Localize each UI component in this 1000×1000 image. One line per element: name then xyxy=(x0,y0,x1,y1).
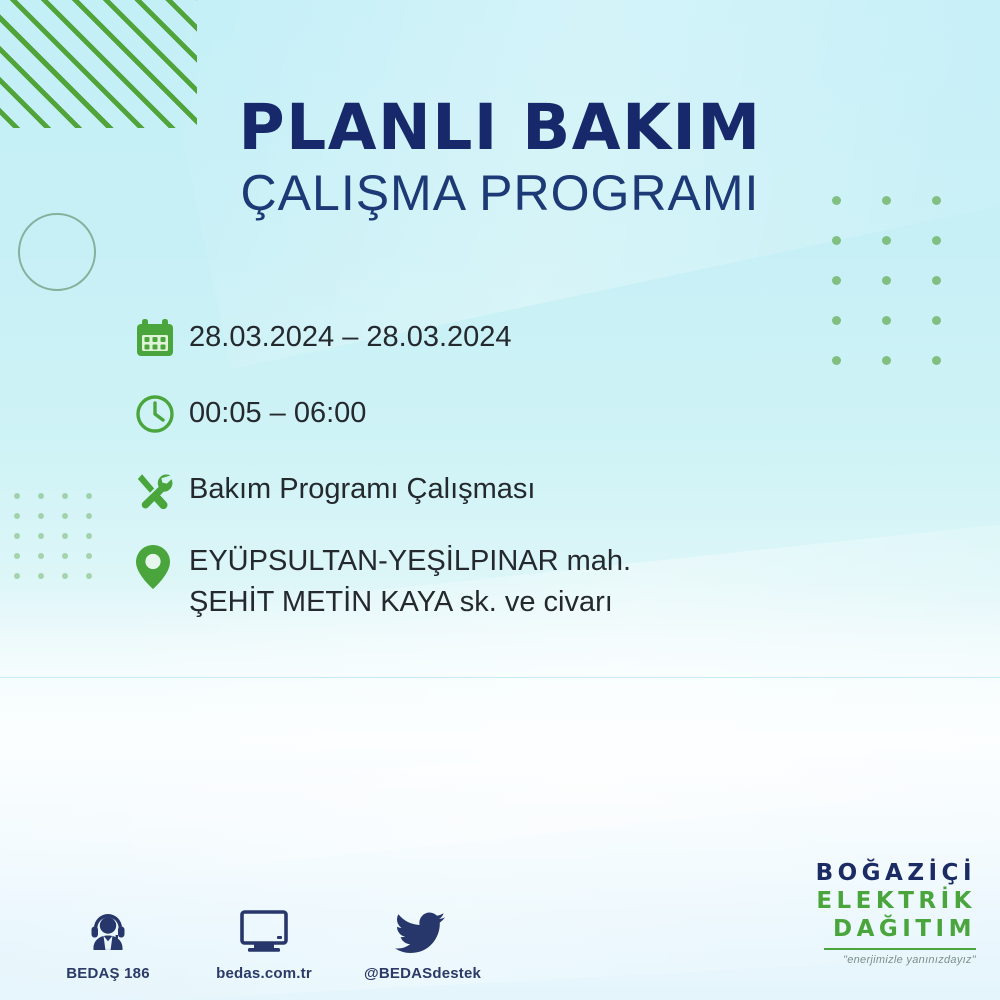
detail-time-text: 00:05 – 06:00 xyxy=(189,389,366,434)
background-band-divider xyxy=(0,677,1000,678)
detail-work-type-text: Bakım Programı Çalışması xyxy=(189,465,535,510)
footer-contacts: BEDAŞ 186 bedas.com.tr @BEDASdestek xyxy=(52,898,476,982)
detail-date-text: 28.03.2024 – 28.03.2024 xyxy=(189,313,512,358)
dot-grid-left-decoration xyxy=(14,493,110,593)
detail-row-date: 28.03.2024 – 28.03.2024 xyxy=(133,313,833,363)
detail-location-text: EYÜPSULTAN-YEŞİLPINAR mah. ŞEHİT METİN K… xyxy=(189,537,631,623)
contact-website-label: bedas.com.tr xyxy=(208,965,320,982)
detail-location-line1: EYÜPSULTAN-YEŞİLPINAR mah. xyxy=(189,545,631,577)
dot-grid-right-decoration xyxy=(832,196,982,396)
twitter-bird-icon xyxy=(364,898,476,956)
page-title: PLANLI BAKIM xyxy=(0,96,1000,160)
call-center-agent-icon xyxy=(52,898,164,956)
brand-logo: BOĞAZİÇİ ELEKTRİK DAĞITIM "enerjimizle y… xyxy=(816,862,976,966)
brand-line-dagitim: DAĞITIM xyxy=(816,918,976,941)
poster-canvas: PLANLI BAKIM ÇALIŞMA PROGRAMI xyxy=(0,0,1000,1000)
brand-tagline: "enerjimizle yanınızdayız" xyxy=(816,955,976,966)
detail-location-line2: ŞEHİT METİN KAYA sk. ve civarı xyxy=(189,582,631,623)
page-subtitle: ÇALIŞMA PROGRAMI xyxy=(0,166,1000,221)
brand-line-bogazici: BOĞAZİÇİ xyxy=(816,862,976,885)
contact-website[interactable]: bedas.com.tr xyxy=(208,898,320,982)
detail-row-time: 00:05 – 06:00 xyxy=(133,389,833,439)
contact-phone-label: BEDAŞ 186 xyxy=(52,965,164,982)
poster-header: PLANLI BAKIM ÇALIŞMA PROGRAMI xyxy=(0,96,1000,221)
contact-phone[interactable]: BEDAŞ 186 xyxy=(52,898,164,982)
clock-icon xyxy=(133,389,189,439)
contact-twitter[interactable]: @BEDASdestek xyxy=(364,898,476,982)
brand-line-elektrik: ELEKTRİK xyxy=(816,890,976,913)
location-pin-icon xyxy=(133,537,189,589)
brand-underline xyxy=(824,948,976,950)
tools-icon xyxy=(133,465,189,517)
outage-details: 28.03.2024 – 28.03.2024 00:05 – 06:00 xyxy=(133,313,833,623)
detail-row-location: EYÜPSULTAN-YEŞİLPINAR mah. ŞEHİT METİN K… xyxy=(133,537,833,623)
detail-row-work-type: Bakım Programı Çalışması xyxy=(133,465,833,517)
contact-twitter-label: @BEDASdestek xyxy=(364,965,476,982)
circle-outline-decoration xyxy=(18,213,96,291)
monitor-icon xyxy=(208,898,320,956)
calendar-icon xyxy=(133,313,189,363)
